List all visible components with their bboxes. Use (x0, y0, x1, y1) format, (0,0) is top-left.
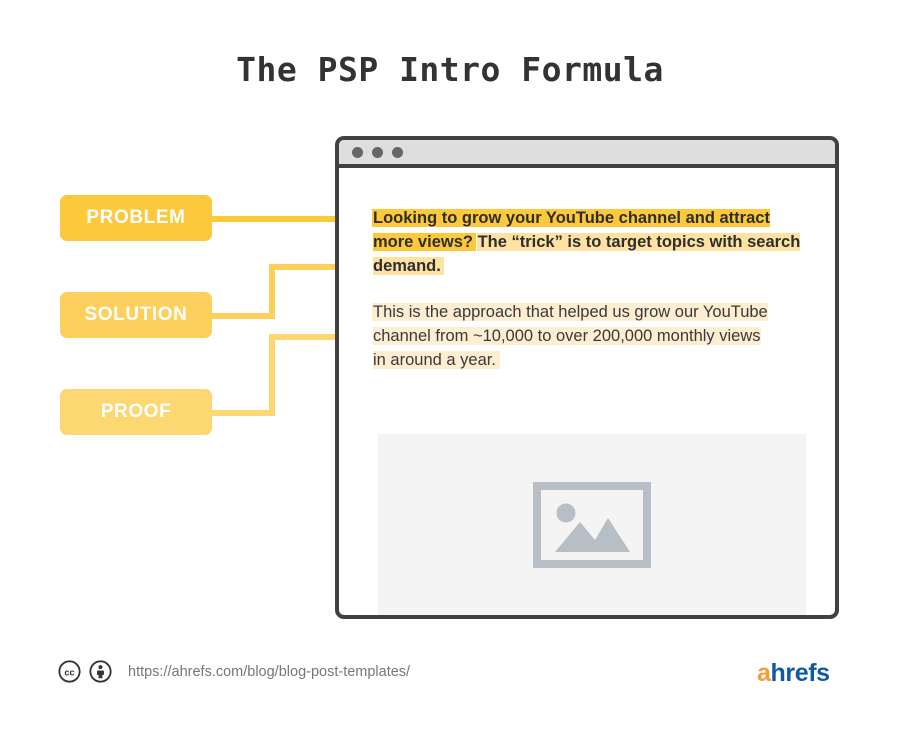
image-placeholder-icon (533, 482, 651, 568)
stage-label-proof[interactable]: PROOF (60, 389, 212, 435)
stage-label-solution[interactable]: SOLUTION (60, 292, 212, 338)
by-person-icon (89, 660, 112, 683)
window-dot-close[interactable] (352, 147, 363, 158)
proof-sentence: This is the approach that helped us grow… (373, 303, 768, 369)
window-dot-minimize[interactable] (372, 147, 383, 158)
intro-paragraph-one: Looking to grow your YouTube channel and… (373, 206, 801, 278)
intro-paragraph-two: This is the approach that helped us grow… (373, 300, 777, 372)
ahrefs-logo[interactable]: ahrefs (757, 659, 830, 688)
logo-letter-a: a (757, 659, 771, 687)
browser-window: Looking to grow your YouTube channel and… (335, 136, 839, 619)
svg-text:cc: cc (64, 667, 74, 677)
cc-icon: cc (58, 660, 81, 683)
browser-titlebar (339, 140, 835, 168)
stage-label-problem[interactable]: PROBLEM (60, 195, 212, 241)
image-placeholder-block (378, 434, 806, 616)
page-title: The PSP Intro Formula (0, 50, 900, 89)
browser-content: Looking to grow your YouTube channel and… (339, 168, 835, 615)
logo-wordmark: hrefs (771, 659, 830, 687)
source-url[interactable]: https://ahrefs.com/blog/blog-post-templa… (128, 664, 410, 680)
footer: cc https://ahrefs.com/blog/blog-post-tem… (58, 660, 410, 683)
window-dot-maximize[interactable] (392, 147, 403, 158)
infographic-canvas: The PSP Intro Formula PROBLEM SOLUTION P… (0, 0, 900, 742)
